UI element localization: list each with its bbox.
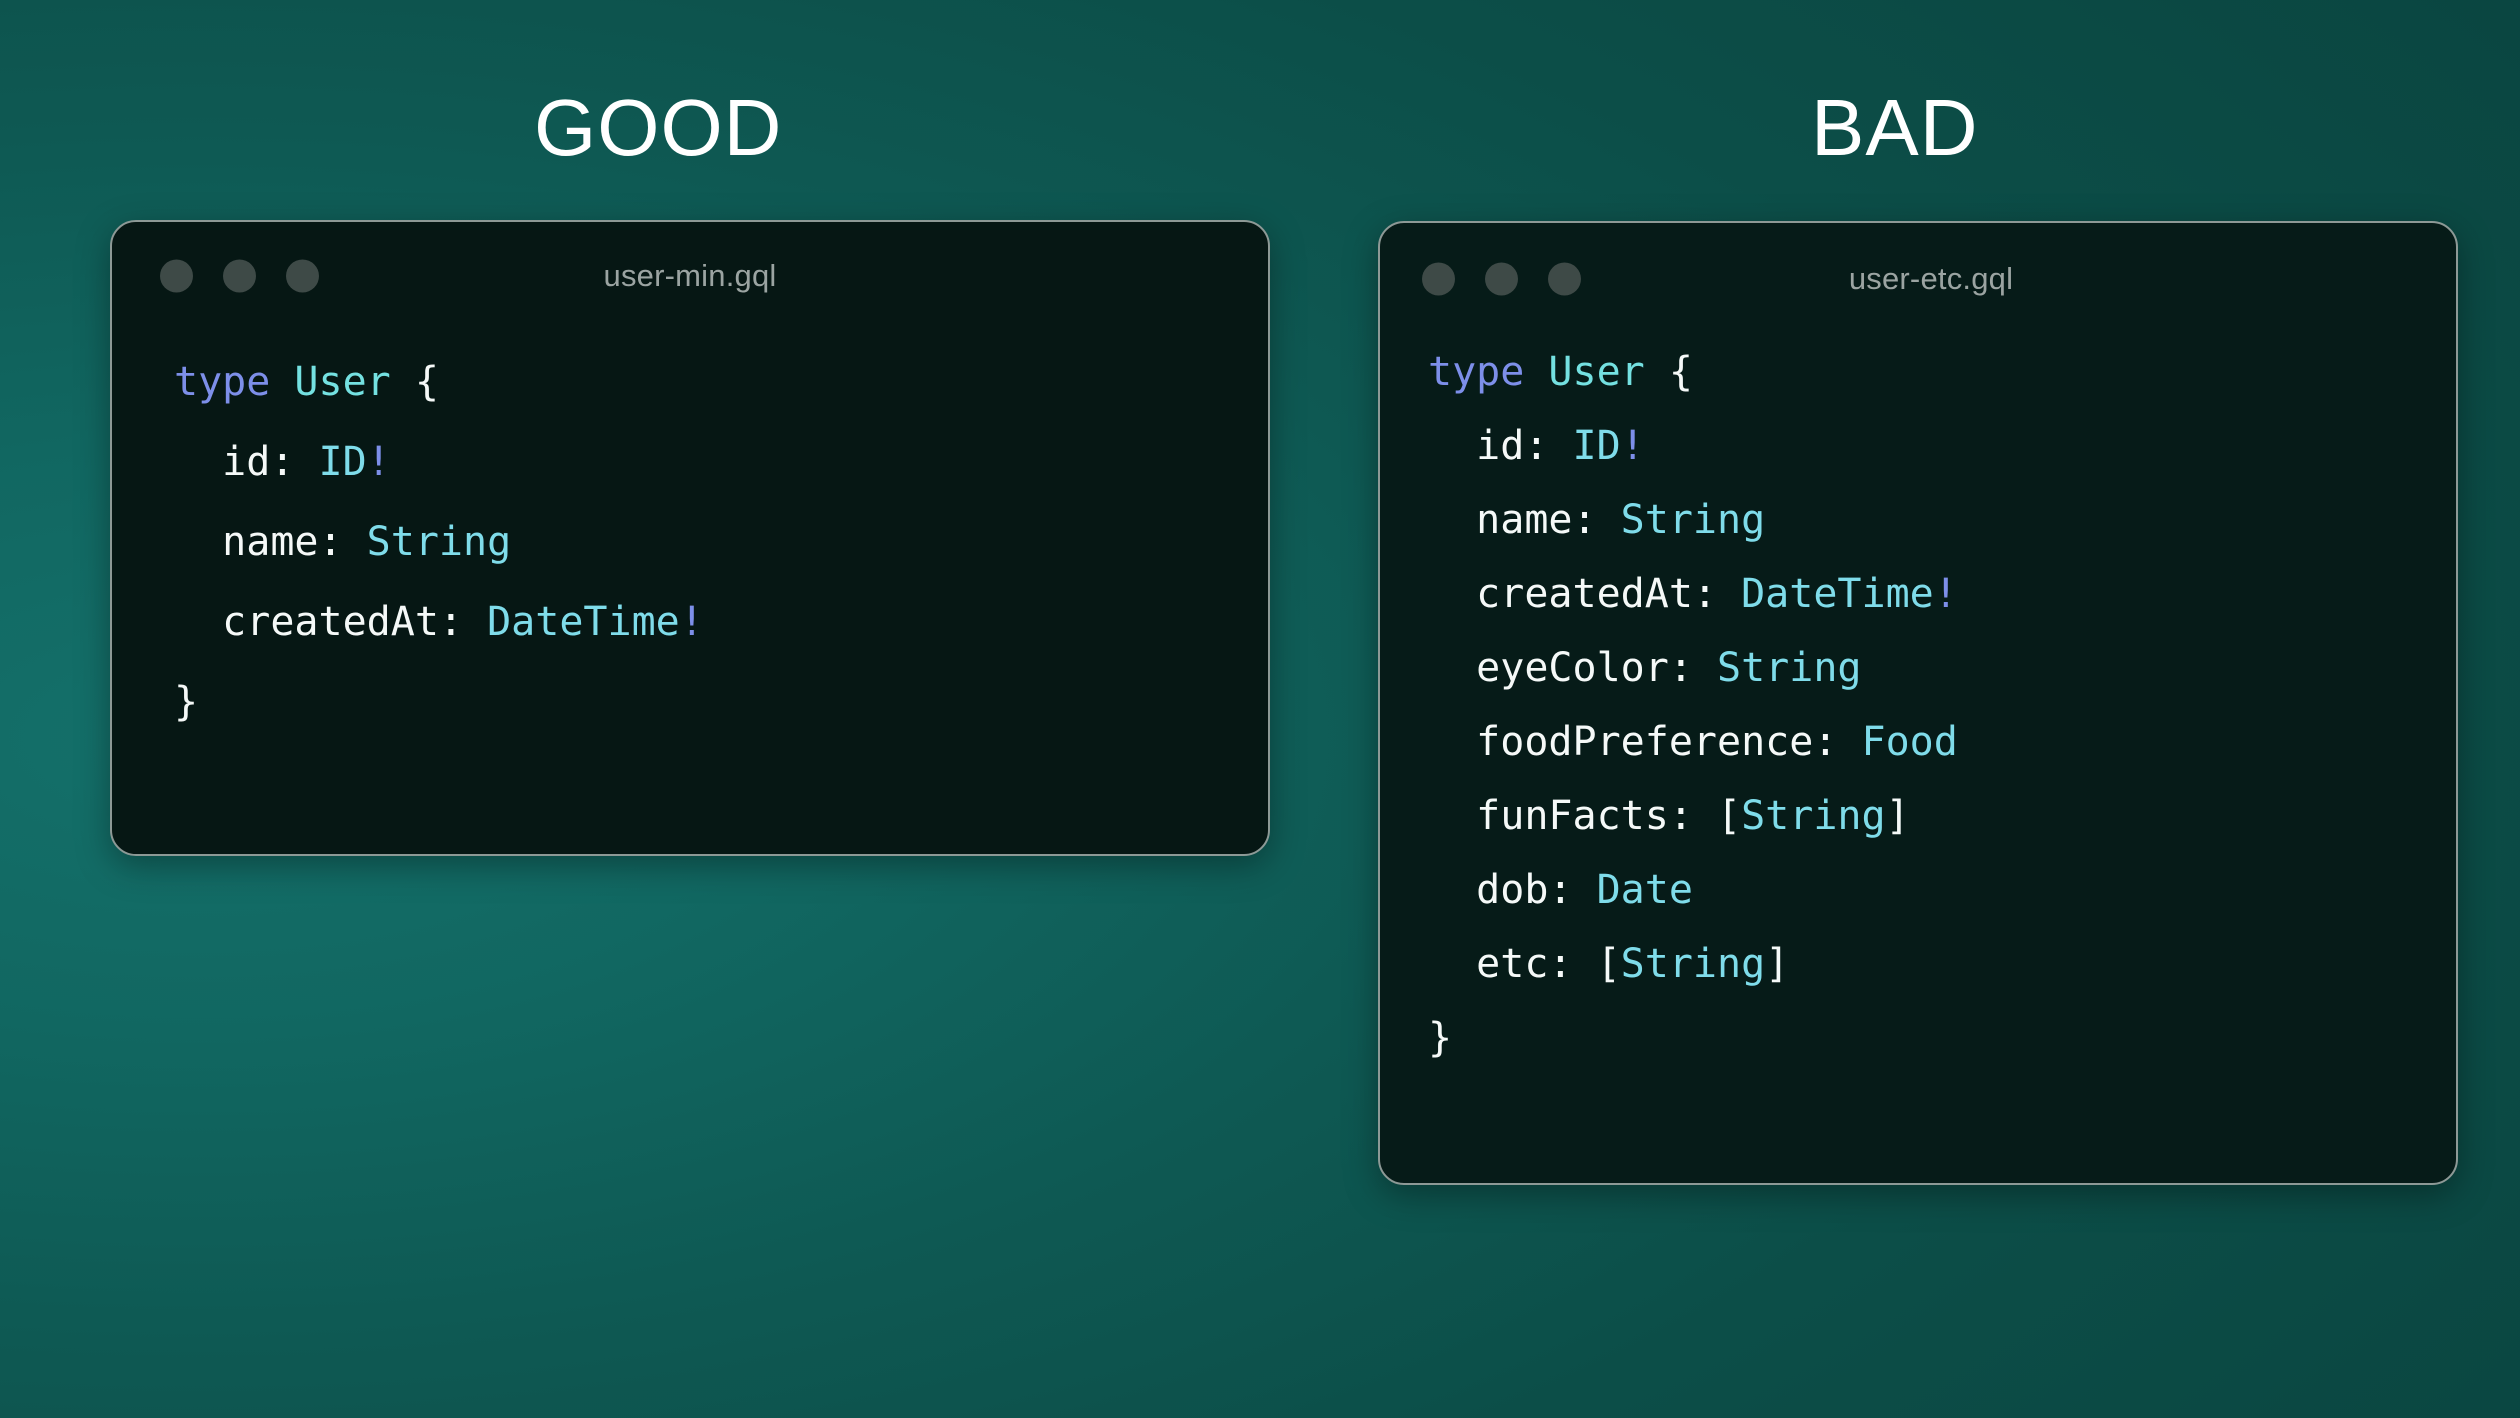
code-token-type_name: User — [1548, 349, 1644, 395]
code-block-good: type User { id: ID! name: String created… — [112, 330, 1268, 742]
code-token-keyword: ! — [1621, 423, 1645, 469]
code-token-keyword: type — [174, 359, 270, 405]
code-token-field: createdAt: — [1428, 571, 1741, 617]
code-token-field: etc: [ — [1428, 941, 1621, 987]
code-line: dob: Date — [1428, 853, 2456, 927]
code-token-scalar: String — [1621, 497, 1766, 543]
code-token-keyword: ! — [1934, 571, 1958, 617]
code-line: } — [174, 662, 1268, 742]
code-token-scalar: Food — [1861, 719, 1957, 765]
close-dot-icon[interactable] — [1422, 263, 1455, 296]
code-token-plain — [391, 359, 415, 405]
code-token-field: dob: — [1428, 867, 1597, 913]
code-token-punctuation: ] — [1765, 941, 1789, 987]
code-token-scalar: String — [367, 519, 512, 565]
code-token-field: name: — [174, 519, 367, 565]
code-window-bad: user-etc.gql type User { id: ID! name: S… — [1378, 221, 2458, 1185]
code-line: name: String — [174, 502, 1268, 582]
code-line: etc: [String] — [1428, 927, 2456, 1001]
code-token-scalar: String — [1741, 793, 1886, 839]
code-line: createdAt: DateTime! — [174, 582, 1268, 662]
window-titlebar-good: user-min.gql — [112, 222, 1268, 330]
code-line: foodPreference: Food — [1428, 705, 2456, 779]
code-window-good: user-min.gql type User { id: ID! name: S… — [110, 220, 1270, 856]
close-dot-icon[interactable] — [160, 260, 193, 293]
heading-bad: BAD — [1811, 88, 1979, 168]
code-token-scalar: Date — [1597, 867, 1693, 913]
minimize-dot-icon[interactable] — [1485, 263, 1518, 296]
code-token-field: name: — [1428, 497, 1621, 543]
code-token-plain — [270, 359, 294, 405]
code-token-scalar: DateTime — [1741, 571, 1934, 617]
code-line: createdAt: DateTime! — [1428, 557, 2456, 631]
code-token-punctuation: } — [174, 679, 198, 725]
code-token-keyword: type — [1428, 349, 1524, 395]
code-token-field: funFacts: [ — [1428, 793, 1741, 839]
code-token-plain — [1524, 349, 1548, 395]
code-line: funFacts: [String] — [1428, 779, 2456, 853]
code-token-field: eyeColor: — [1428, 645, 1717, 691]
code-token-field: id: — [1428, 423, 1573, 469]
code-token-scalar: String — [1717, 645, 1862, 691]
code-token-scalar: DateTime — [487, 599, 680, 645]
code-token-type_name: User — [294, 359, 390, 405]
code-token-punctuation: { — [1669, 349, 1693, 395]
code-line: type User { — [1428, 335, 2456, 409]
code-token-field: createdAt: — [174, 599, 487, 645]
code-line: id: ID! — [1428, 409, 2456, 483]
code-line: eyeColor: String — [1428, 631, 2456, 705]
code-token-keyword: ! — [367, 439, 391, 485]
window-titlebar-bad: user-etc.gql — [1380, 223, 2456, 335]
code-token-scalar: String — [1621, 941, 1766, 987]
code-line: name: String — [1428, 483, 2456, 557]
heading-good: GOOD — [534, 88, 782, 168]
code-token-punctuation: { — [415, 359, 439, 405]
code-line: id: ID! — [174, 422, 1268, 502]
maximize-dot-icon[interactable] — [1548, 263, 1581, 296]
code-block-bad: type User { id: ID! name: String created… — [1380, 335, 2456, 1075]
code-token-plain — [1645, 349, 1669, 395]
minimize-dot-icon[interactable] — [223, 260, 256, 293]
code-token-punctuation: } — [1428, 1015, 1452, 1061]
maximize-dot-icon[interactable] — [286, 260, 319, 293]
code-token-scalar: ID — [319, 439, 367, 485]
code-line: } — [1428, 1001, 2456, 1075]
code-token-field: id: — [174, 439, 319, 485]
code-token-keyword: ! — [680, 599, 704, 645]
window-controls-bad — [1422, 263, 1581, 296]
code-line: type User { — [174, 342, 1268, 422]
code-token-scalar: ID — [1573, 423, 1621, 469]
code-token-field: foodPreference: — [1428, 719, 1861, 765]
code-token-punctuation: ] — [1886, 793, 1910, 839]
window-controls-good — [160, 260, 319, 293]
